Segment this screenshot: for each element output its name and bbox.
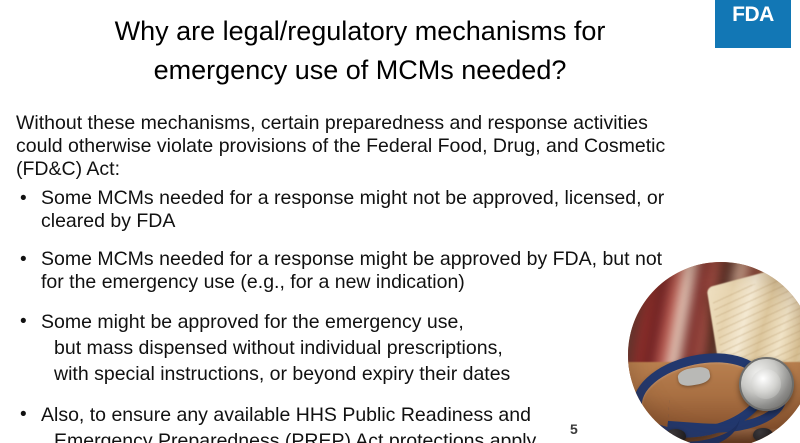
bullet-marker-icon: •	[20, 248, 27, 271]
intro-paragraph: Without these mechanisms, certain prepar…	[16, 112, 732, 181]
stethoscope-eartip	[665, 429, 685, 443]
fda-logo-text: FDA	[732, 4, 774, 25]
bullet-marker-icon: •	[20, 309, 27, 335]
fda-logo: FDA	[715, 0, 791, 48]
stethoscope-and-book-photo	[628, 262, 800, 443]
bullet-item: • Some MCMs needed for a response might …	[16, 187, 756, 233]
bullet-1-line-2: cleared by FDA	[41, 210, 756, 233]
stethoscope-chestpiece	[739, 357, 793, 411]
bullet-marker-icon: •	[20, 187, 27, 210]
title-line-2: emergency use of MCMs needed?	[40, 51, 680, 90]
intro-line-2: could otherwise violate provisions of th…	[16, 135, 732, 158]
photo-background	[628, 262, 800, 443]
intro-line-1: Without these mechanisms, certain prepar…	[16, 112, 732, 135]
slide: FDA Why are legal/regulatory mechanisms …	[0, 0, 800, 443]
bullet-marker-icon: •	[20, 402, 27, 428]
page-number: 5	[570, 421, 578, 437]
title-line-1: Why are legal/regulatory mechanisms for	[40, 12, 680, 51]
intro-line-3: (FD&C) Act:	[16, 158, 732, 181]
slide-title: Why are legal/regulatory mechanisms for …	[40, 12, 680, 90]
bullet-1-line-1: Some MCMs needed for a response might no…	[41, 187, 756, 210]
